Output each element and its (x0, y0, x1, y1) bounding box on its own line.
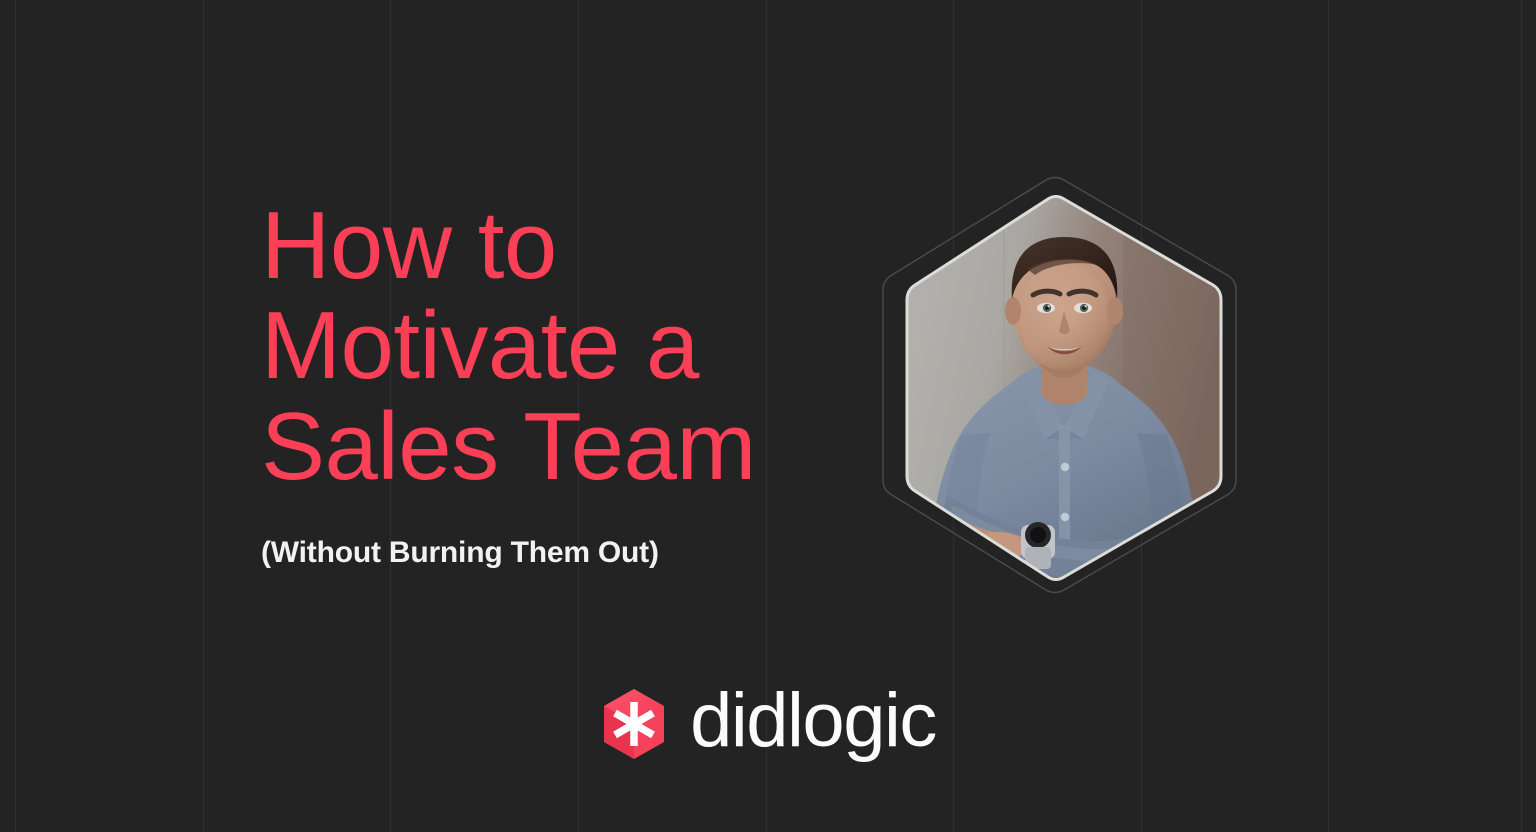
hero-text-block: How to Motivate a Sales Team (Without Bu… (261, 196, 881, 571)
page-title: How to Motivate a Sales Team (261, 196, 881, 497)
hero-subtitle: (Without Burning Them Out) (261, 497, 881, 571)
portrait-hexagon (878, 173, 1250, 597)
didlogic-hexagon-asterisk-icon (600, 687, 668, 761)
social-card-canvas: How to Motivate a Sales Team (Without Bu… (0, 0, 1536, 832)
portrait-photo (895, 195, 1233, 581)
brand-wordmark: didlogic (690, 683, 936, 759)
brand-logo: didlogic (0, 686, 1536, 762)
